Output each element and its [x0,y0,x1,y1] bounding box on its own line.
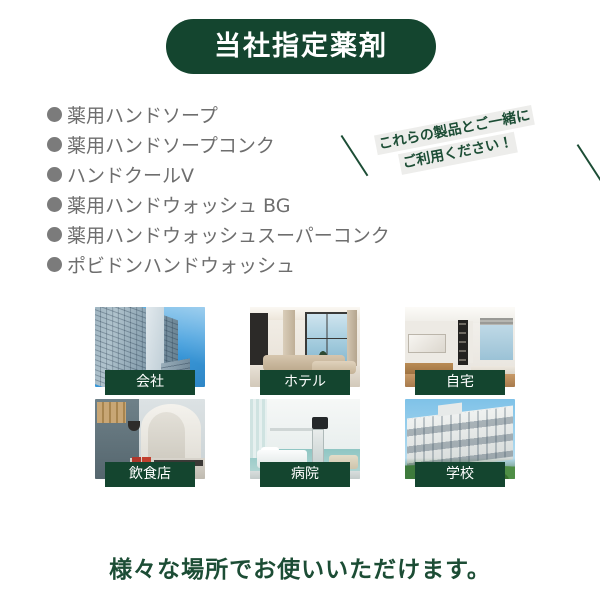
location-label: 会社 [105,370,195,396]
location-label: 飲食店 [105,462,195,488]
location-label: 自宅 [415,370,505,396]
product-name: 薬用ハンドソープ [67,101,218,128]
bullet-dot-icon [47,257,62,272]
bullet-dot-icon [47,227,62,242]
location-tile-home: 自宅 [405,307,515,387]
location-tile-restaurant: 飲食店 [95,399,205,479]
location-label: 学校 [415,462,505,488]
location-label: 病院 [260,462,350,488]
annotation-slash-right-icon [577,144,600,185]
product-name: ポビドンハンドウォッシュ [67,251,295,278]
location-grid: 会社 ホテル [95,307,515,491]
list-item: 薬用ハンドウォッシュスーパーコンク [47,219,467,249]
list-item: 薬用ハンドソープ [47,99,467,129]
location-label: ホテル [260,370,350,396]
bullet-dot-icon [47,167,62,182]
product-name: 薬用ハンドソープコンク [67,131,275,158]
product-name: 薬用ハンドウォッシュスーパーコンク [67,221,390,248]
location-tile-office: 会社 [95,307,205,387]
bullet-dot-icon [47,107,62,122]
title-banner: 当社指定薬剤 [166,19,436,74]
product-name: 薬用ハンドウォッシュ BG [67,191,290,218]
bullet-dot-icon [47,197,62,212]
location-row-2: 飲食店 病院 学校 [95,399,515,479]
location-tile-hotel: ホテル [250,307,360,387]
footer-caption: 様々な場所でお使いいただけます。 [0,550,600,584]
product-name: ハンドクールV [67,161,194,188]
location-tile-school: 学校 [405,399,515,479]
location-tile-hospital: 病院 [250,399,360,479]
page-title: 当社指定薬剤 [214,33,388,60]
list-item: ポビドンハンドウォッシュ [47,249,467,279]
bullet-dot-icon [47,137,62,152]
location-row-1: 会社 ホテル [95,307,515,387]
